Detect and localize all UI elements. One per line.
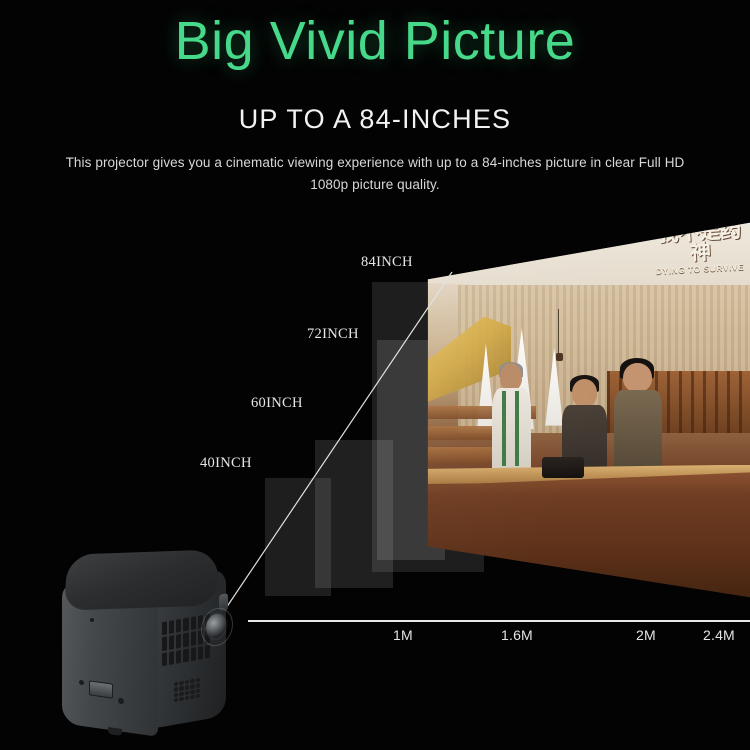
figure-head: [623, 363, 651, 392]
projector-top-panel: [64, 549, 220, 610]
size-label-84inch: 84INCH: [361, 254, 413, 271]
figure-stole-left: [502, 391, 506, 466]
projector-indicator-dot: [90, 618, 94, 623]
scene-lamp-cable: [558, 309, 559, 356]
scene-desk-front: [425, 472, 750, 605]
projector-screw: [79, 680, 84, 686]
size-label-60inch: 60INCH: [251, 395, 303, 412]
scene-desk-object: [542, 457, 584, 478]
projector-screw: [118, 698, 124, 705]
figure-head: [572, 379, 597, 407]
distance-label-1.6m: 1.6M: [501, 627, 533, 643]
scene-lamp: [556, 353, 564, 361]
distance-label-1m: 1M: [393, 627, 413, 643]
projector-foot: [108, 727, 122, 736]
movie-scene: [425, 215, 750, 605]
product-feature-banner: Big Vivid Picture UP TO A 84-INCHES This…: [0, 0, 750, 750]
distance-baseline: [248, 620, 750, 622]
figure-stole-right: [515, 391, 519, 466]
size-label-40inch: 40INCH: [200, 455, 252, 472]
distance-label-2m: 2M: [636, 627, 656, 643]
projected-movie-image: 我不是药神 DYING TO SURVIVE: [425, 215, 750, 605]
figure-head: [500, 363, 522, 390]
projection-diagram: 我不是药神 DYING TO SURVIVE 40INCH 60INCH 72I…: [0, 0, 750, 750]
distance-label-2.4m: 2.4M: [703, 627, 735, 643]
projector-device: [56, 552, 242, 744]
projector-port: [89, 680, 113, 698]
screen-rect-40inch: [265, 478, 331, 596]
size-label-72inch: 72INCH: [307, 326, 359, 343]
